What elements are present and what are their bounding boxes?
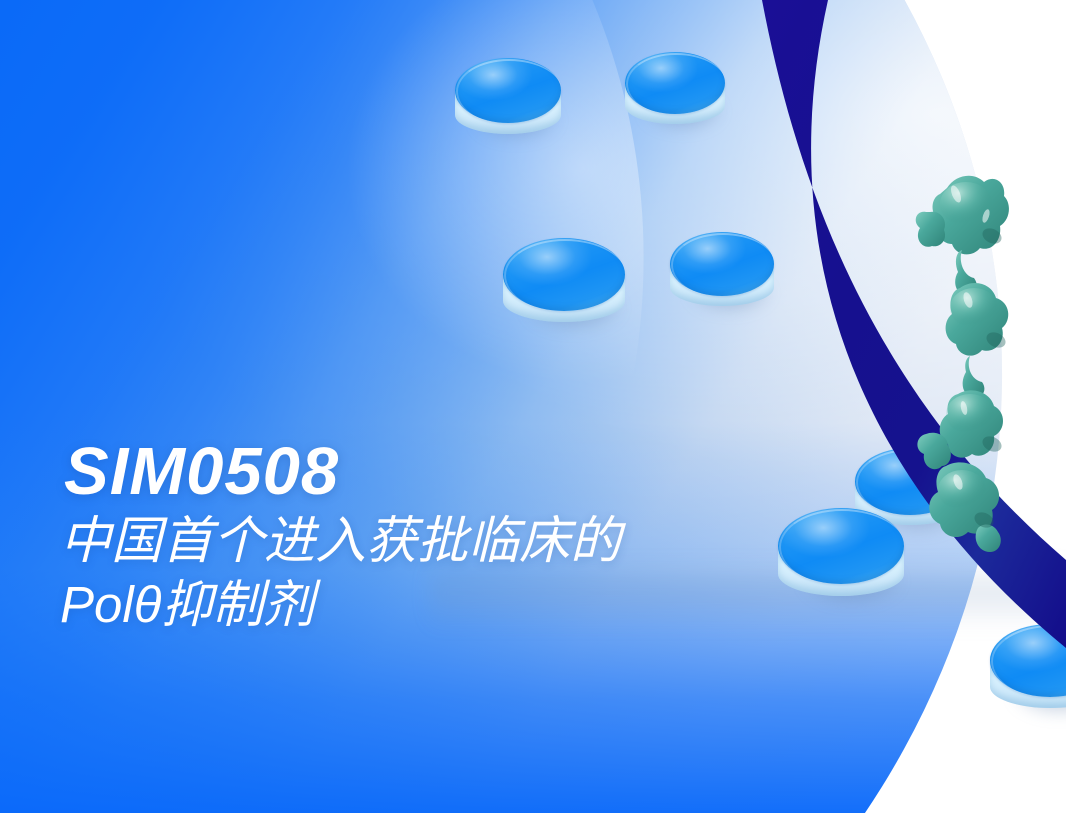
tablet-rim-highlight [671, 233, 775, 297]
tablet-rim-highlight [856, 449, 966, 516]
tablet-3 [503, 238, 625, 334]
product-code: SIM0508 [64, 438, 840, 505]
subtitle-line-1: 中国首个进入获批临床的 [60, 509, 840, 573]
tablet-rim-highlight [626, 53, 726, 116]
tablet-rim-highlight [456, 59, 562, 125]
headline-block: SIM0508 中国首个进入获批临床的 Polθ抑制剂 [60, 438, 840, 638]
tablet-rim-highlight [504, 239, 626, 312]
tablet-4 [670, 232, 774, 316]
subtitle-line-2: Polθ抑制剂 [60, 573, 840, 637]
tablet-2 [625, 52, 725, 134]
tablet-7 [990, 624, 1066, 720]
poster-canvas: SIM0508 中国首个进入获批临床的 Polθ抑制剂 [0, 0, 1066, 813]
tablet-1 [455, 58, 561, 144]
